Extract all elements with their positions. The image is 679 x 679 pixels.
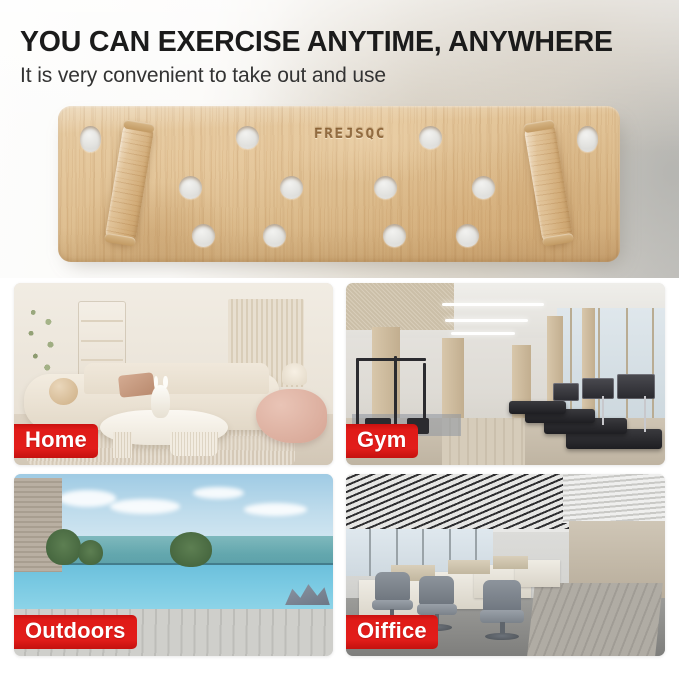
rail-cap-bottom-right [542, 233, 574, 247]
corridor-floor [527, 583, 662, 656]
page-title: YOU CAN EXERCISE ANYTIME, ANYWHERE [20, 26, 613, 59]
treadmill-console [582, 378, 614, 400]
hero-banner: YOU CAN EXERCISE ANYTIME, ANYWHERE It is… [0, 0, 679, 278]
sofa-backrest [84, 363, 269, 394]
rail-cap-bottom-left [104, 233, 136, 247]
cable-machine-post [394, 356, 397, 432]
peg-hole-r1-c1 [236, 126, 259, 149]
swimming-pool [14, 565, 333, 611]
ceiling-slats [346, 474, 569, 529]
office-chair [483, 580, 521, 642]
scenario-tile-outdoors: Outdoors [14, 474, 333, 656]
rail-cap-top-right [523, 119, 555, 133]
peg-hole-r3-c3 [383, 224, 406, 247]
mount-hole-top-left [80, 126, 101, 152]
scenario-label-home: Home [14, 424, 98, 458]
scenario-label-office: Oiffice [346, 615, 438, 649]
window-wall [557, 308, 665, 421]
ceiling-panel-right [563, 474, 665, 523]
peg-hole-r2-c3 [374, 176, 397, 199]
tree [46, 529, 81, 565]
rail-cap-top-left [123, 119, 155, 133]
usage-scenario-grid: Home [14, 283, 665, 665]
tree [170, 532, 211, 567]
treadmill-console [553, 383, 579, 401]
support-rail-left [104, 120, 155, 245]
table-lamp [282, 363, 308, 385]
peg-hole-r3-c4 [456, 224, 479, 247]
peg-hole-r3-c2 [263, 224, 286, 247]
round-cushion [49, 378, 78, 405]
peg-hole-r3-c1 [192, 224, 215, 247]
cable-machine-beam [356, 358, 426, 361]
coffee-table-leg [113, 432, 132, 457]
page-subtitle: It is very convenient to take out and us… [20, 64, 386, 88]
peg-hole-r2-c4 [472, 176, 495, 199]
scenario-label-gym: Gym [346, 424, 418, 458]
treadmill-console [617, 374, 655, 399]
treadmill-deck [509, 401, 566, 414]
scenario-tile-gym: Gym [346, 283, 665, 465]
desk-partition [493, 556, 528, 569]
support-rail-right [523, 120, 574, 245]
peg-hole-r2-c1 [179, 176, 202, 199]
pegboard: FREJSQC [58, 106, 620, 262]
coffee-table-base [170, 432, 218, 456]
tree [78, 540, 104, 565]
throw-pillow [118, 372, 155, 397]
mount-hole-top-right [577, 126, 598, 152]
ceiling-mesh-panel [346, 283, 454, 330]
brand-engraving: FREJSQC [292, 125, 409, 142]
cable-machine-post [356, 359, 359, 432]
peg-hole-r2-c2 [280, 176, 303, 199]
peg-hole-r1-c2 [419, 126, 442, 149]
desk-partition [448, 560, 489, 575]
product-image: FREJSQC [58, 106, 623, 266]
bunny-figurine [151, 385, 170, 418]
scenario-tile-home: Home [14, 283, 333, 465]
beanbag-chair [256, 389, 326, 444]
scenario-label-outdoors: Outdoors [14, 615, 137, 649]
scenario-tile-office: Oiffice [346, 474, 665, 656]
